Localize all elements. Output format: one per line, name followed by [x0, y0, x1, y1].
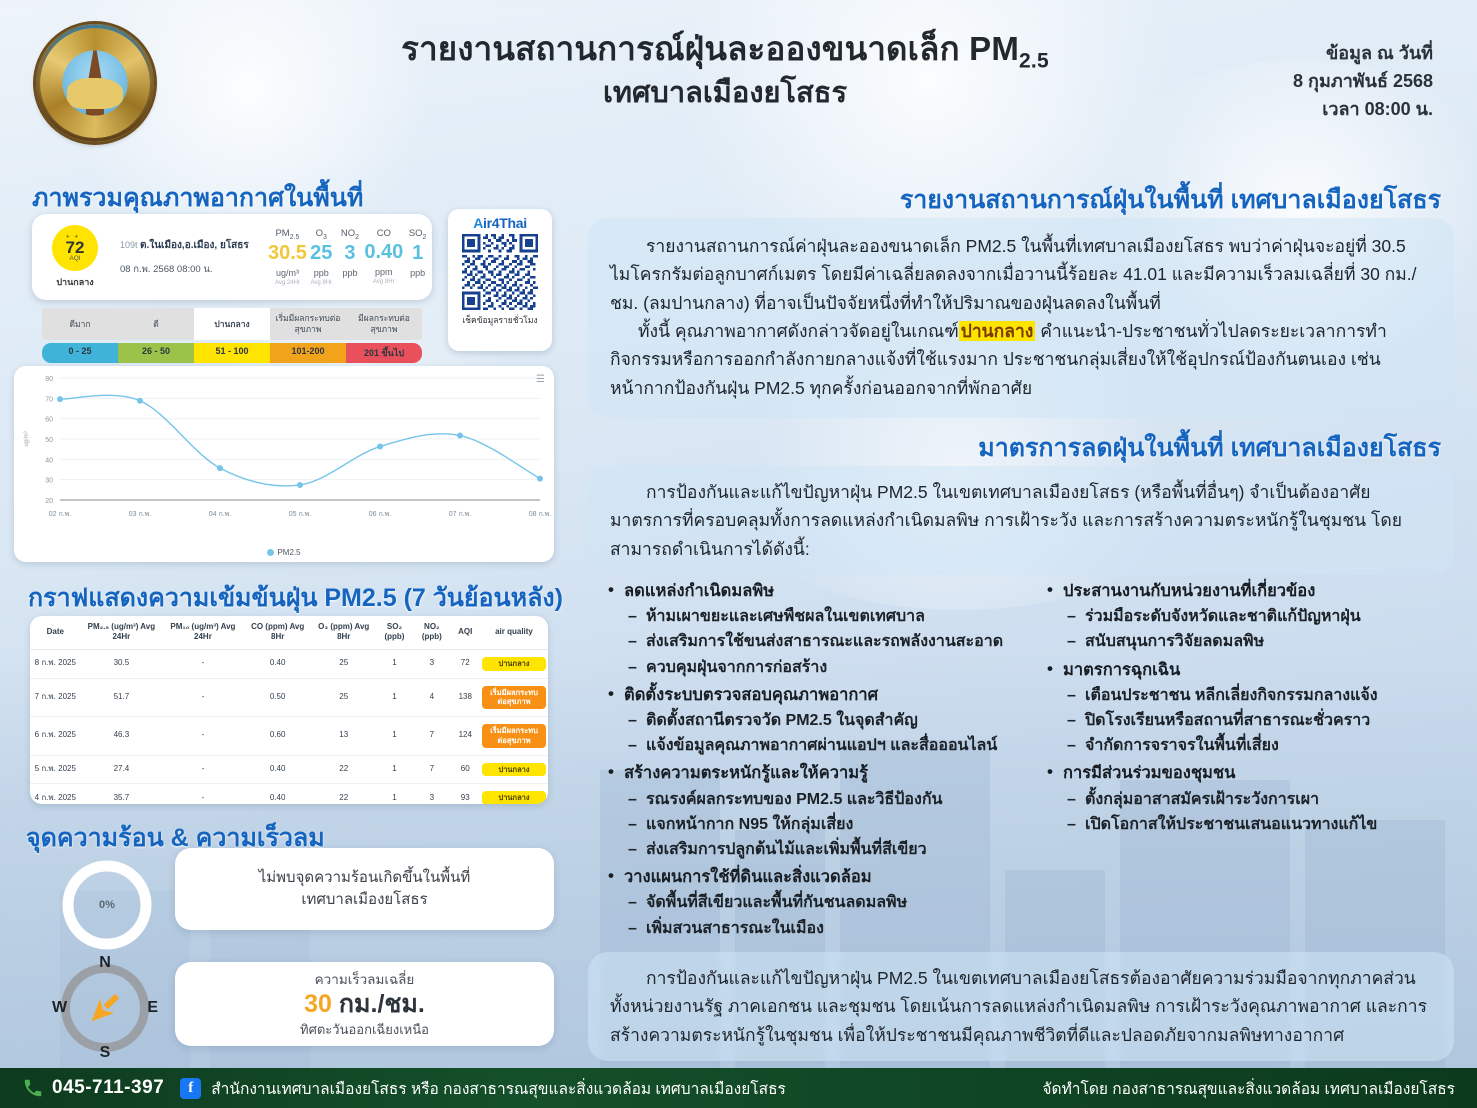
table-cell-o3: 13: [312, 717, 376, 756]
pollutant-pm2.5: PM2.530.5ug/m³Avg 24Hr: [268, 228, 307, 287]
table-header-cell: PM₁₀ (ug/m³) Avg 24Hr: [162, 616, 244, 649]
table-cell-aqi: 93: [451, 784, 481, 804]
page-footer: 045-711-397 f สำนักงานเทศบาลเมืองยโสธร ห…: [0, 1068, 1477, 1108]
table-cell-o3: 25: [312, 678, 376, 717]
aqi-scale-label-2: ปานกลาง: [194, 308, 270, 340]
phone-icon: [22, 1077, 44, 1099]
table-header-cell: AQI: [451, 616, 481, 649]
measure-sub-item: ติดตั้งสถานีตรวจวัด PM2.5 ในจุดสำคัญ: [604, 708, 1027, 733]
aqi-badge: •• 72 AQI ปานกลาง: [32, 225, 118, 289]
closing-text-panel: การป้องกันและแก้ไขปัญหาฝุ่น PM2.5 ในเขตเ…: [588, 952, 1454, 1061]
measure-group-title: ติดตั้งระบบตรวจสอบคุณภาพอากาศ: [604, 682, 1027, 708]
table-body: 8 ก.พ. 202530.5-0.40251372ปานกลาง7 ก.พ. …: [30, 649, 548, 804]
pollutant-value: 25: [307, 242, 336, 265]
measure-group-title: สร้างความตระหนักรู้และให้ความรู้: [604, 760, 1027, 786]
table-row: 5 ก.พ. 202527.4-0.40221760ปานกลาง: [30, 755, 548, 784]
pm25-trend-chart: ☰ 20304050607080ug/m³02 ก.พ.03 ก.พ.04 ก.…: [14, 366, 554, 562]
measure-sub-item: ห้ามเผาขยะและเศษพืชผลในเขตเทศบาล: [604, 604, 1027, 629]
pollutant-o3: O325ppbAvg 8Hr: [307, 228, 336, 287]
table-cell-o3: 25: [312, 649, 376, 678]
table-cell-co: 0.40: [244, 649, 312, 678]
air4thai-logo-text: ir4Thai: [483, 215, 527, 231]
page-title: รายงานสถานการณ์ฝุ่นละอองขนาดเล็ก PM2.5 เ…: [300, 28, 1150, 113]
time-value: เวลา 08:00 น.: [1293, 96, 1433, 124]
pollutant-unit: ppb: [307, 268, 336, 278]
measure-group-title: มาตรการฉุกเฉิน: [1043, 657, 1466, 683]
aqi-scale: ดีมากดีปานกลางเริ่มมีผลกระทบต่อสุขภาพมีผ…: [42, 308, 422, 363]
aqi-scale-labels: ดีมากดีปานกลางเริ่มมีผลกระทบต่อสุขภาพมีผ…: [42, 308, 422, 340]
table-row: 6 ก.พ. 202546.3-0.601317124เริ่มมีผลกระท…: [30, 717, 548, 756]
table-cell-aqi: 138: [451, 678, 481, 717]
report-text-panel: รายงานสถานการณ์ค่าฝุ่นละอองขนาดเล็ก PM2.…: [588, 218, 1454, 418]
station-id: 109t: [120, 240, 138, 250]
table-cell-aqi: 60: [451, 755, 481, 784]
aqi-scale-label-1: ดี: [118, 308, 194, 340]
aqi-scale-label-4: มีผลกระทบต่อสุขภาพ: [346, 308, 422, 340]
section-title-measures: มาตรการลดฝุ่นในพื้นที่ เทศบาลเมืองยโสธร: [978, 428, 1441, 468]
measure-sub-item: ร่วมมือระดับจังหวัดและชาติแก้ปัญหาฝุ่น: [1043, 604, 1466, 629]
measure-group: การมีส่วนร่วมของชุมชนตั้งกลุ่มอาสาสมัครเ…: [1043, 760, 1466, 837]
wind-direction-compass: N E S W: [55, 958, 155, 1058]
air4thai-aqi-card: •• 72 AQI ปานกลาง 109t ต.ในเมือง,อ.เมือง…: [32, 214, 432, 300]
report-paragraph-1: รายงานสถานการณ์ค่าฝุ่นละอองขนาดเล็ก PM2.…: [610, 232, 1432, 317]
measure-sub-item: เตือนประชาชน หลีกเลี่ยงกิจกรรมกลางแจ้ง: [1043, 683, 1466, 708]
pollutant-name: PM2.5: [268, 228, 307, 241]
table-header-cell: NO₂ (ppb): [413, 616, 450, 649]
table-cell-co: 0.40: [244, 755, 312, 784]
measure-sub-item: จัดพื้นที่สีเขียวและพื้นที่กันชนลดมลพิษ: [604, 890, 1027, 915]
aqi-level-label: ปานกลาง: [32, 275, 118, 289]
page-header: รายงานสถานการณ์ฝุ่นละอองขนาดเล็ก PM2.5 เ…: [0, 0, 1477, 160]
air-quality-badge: ปานกลาง: [482, 791, 546, 804]
measure-sub-item: เปิดโอกาสให้ประชาชนเสนอแนวทางแก้ไข: [1043, 812, 1466, 837]
measure-sub-item: ควบคุมฝุ่นจากการก่อสร้าง: [604, 655, 1027, 680]
table-cell-date: 6 ก.พ. 2025: [30, 717, 81, 756]
chart-menu-icon[interactable]: ☰: [536, 376, 546, 383]
hotspot-message-card: ไม่พบจุดความร้อนเกิดขึ้นในพื้นที่ เทศบาล…: [175, 848, 554, 930]
table-header-cell: SO₂ (ppb): [376, 616, 413, 649]
air4thai-qr-card[interactable]: Air4Thai: [448, 209, 552, 351]
measures-column-left: ลดแหล่งกำเนิดมลพิษห้ามเผาขยะและเศษพืชผลใ…: [604, 578, 1027, 943]
wind-speed-unit: กม./ชม.: [339, 990, 425, 1018]
measure-sub-item: ส่งเสริมการใช้ขนส่งสาธารณะและรถพลังงานสะ…: [604, 629, 1027, 654]
pollutant-value: 1: [403, 242, 432, 265]
svg-text:20: 20: [45, 498, 53, 505]
report-para2-pre: ทั้งนี้ คุณภาพอากาศดังกล่าวจัดอยู่ในเกณฑ…: [638, 321, 959, 341]
aqi-scale-range-2: 51 - 100: [194, 343, 270, 363]
table-cell-aqi: 124: [451, 717, 481, 756]
svg-text:60: 60: [45, 417, 53, 424]
aqi-scale-bar: 0 - 2526 - 5051 - 100101-200201 ขึ้นไป: [42, 343, 422, 363]
measure-group: สร้างความตระหนักรู้และให้ความรู้รณรงค์ผล…: [604, 760, 1027, 862]
air-quality-badge: ปานกลาง: [482, 763, 546, 777]
pollutant-no2: NO23ppb: [336, 228, 365, 287]
table-cell-air-quality: ปานกลาง: [480, 649, 548, 678]
footer-facebook-text: สำนักงานเทศบาลเมืองยโสธร หรือ กองสาธารณส…: [211, 1076, 786, 1101]
svg-text:07 ก.พ.: 07 ก.พ.: [449, 511, 472, 518]
section-title-overview: ภาพรวมคุณภาพอากาศในพื้นที่: [32, 178, 363, 218]
table-cell-no2: 7: [413, 755, 450, 784]
measure-sub-item: ปิดโรงเรียนหรือสถานที่สาธารณะชั่วคราว: [1043, 708, 1466, 733]
station-timestamp: 08 ก.พ. 2568 08:00 น.: [120, 262, 268, 277]
hotspot-message-line2: เทศบาลเมืองยโสธร: [301, 891, 427, 908]
pollutant-avg: Avg 8Hr: [307, 280, 336, 286]
svg-text:40: 40: [45, 457, 53, 464]
hotspot-message-line1: ไม่พบจุดความร้อนเกิดขึ้นในพื้นที่: [259, 869, 471, 886]
table-header-row: DatePM₂.₅ (ug/m³) Avg 24HrPM₁₀ (ug/m³) A…: [30, 616, 548, 649]
table-cell-air-quality: ปานกลาง: [480, 755, 548, 784]
measure-group: ติดตั้งระบบตรวจสอบคุณภาพอากาศติดตั้งสถาน…: [604, 682, 1027, 759]
table-cell-co: 0.50: [244, 678, 312, 717]
svg-text:06 ก.พ.: 06 ก.พ.: [369, 511, 392, 518]
table-cell-pm25: 30.5: [81, 649, 163, 678]
table-row: 4 ก.พ. 202535.7-0.40221393ปานกลาง: [30, 784, 548, 804]
svg-text:30: 30: [45, 478, 53, 485]
pollutant-value: 0.40: [364, 241, 403, 264]
date-value: 8 กุมภาพันธ์ 2568: [1293, 68, 1433, 96]
table-cell-pm10: -: [162, 649, 244, 678]
closing-paragraph: การป้องกันและแก้ไขปัญหาฝุ่น PM2.5 ในเขตเ…: [610, 964, 1432, 1049]
hotspot-percent-ring: 0%: [58, 856, 156, 954]
table-cell-date: 4 ก.พ. 2025: [30, 784, 81, 804]
measures-column-right: ประสานงานกับหน่วยงานที่เกี่ยวข้องร่วมมือ…: [1043, 578, 1466, 943]
table-header-cell: air quality: [480, 616, 548, 649]
table-cell-pm10: -: [162, 678, 244, 717]
table-header-cell: Date: [30, 616, 81, 649]
aqi-value: 72: [66, 239, 85, 256]
legend-marker-icon: [267, 549, 274, 556]
measure-group-title: วางแผนการใช้ที่ดินและสิ่งแวดล้อม: [604, 864, 1027, 890]
table-cell-aqi: 72: [451, 649, 481, 678]
table-cell-pm10: -: [162, 755, 244, 784]
pollutant-name: SO2: [403, 228, 432, 241]
pollutant-unit: ppb: [336, 268, 365, 278]
report-date-block: ข้อมูล ณ วันที่ 8 กุมภาพันธ์ 2568 เวลา 0…: [1293, 40, 1433, 124]
pollutant-name: NO2: [336, 228, 365, 241]
pollutant-avg: Avg 24Hr: [268, 280, 307, 286]
pollutant-value: 3: [336, 242, 365, 265]
table-cell-no2: 3: [413, 649, 450, 678]
table-cell-o3: 22: [312, 784, 376, 804]
svg-text:03 ก.พ.: 03 ก.พ.: [129, 511, 152, 518]
title-line2: เทศบาลเมืองยโสธร: [300, 75, 1150, 113]
pm25-history-table: DatePM₂.₅ (ug/m³) Avg 24HrPM₁₀ (ug/m³) A…: [30, 616, 548, 804]
pollutant-unit: ug/m³: [268, 268, 307, 278]
title-line1-subscript: 2.5: [1019, 50, 1049, 73]
svg-text:04 ก.พ.: 04 ก.พ.: [209, 511, 232, 518]
measures-intro-panel: การป้องกันและแก้ไขปัญหาฝุ่น PM2.5 ในเขตเ…: [588, 466, 1454, 575]
wind-speed-label: ความเร็วลมเฉลี่ย: [315, 968, 415, 990]
measure-group-title: การมีส่วนร่วมของชุมชน: [1043, 760, 1466, 786]
station-info: 109t ต.ในเมือง,อ.เมือง, ยโสธร 08 ก.พ. 25…: [118, 238, 268, 277]
table-header-cell: PM₂.₅ (ug/m³) Avg 24Hr: [81, 616, 163, 649]
table-cell-pm25: 46.3: [81, 717, 163, 756]
aqi-scale-label-0: ดีมาก: [42, 308, 118, 340]
wind-arrow-icon: [82, 985, 128, 1031]
pollutant-avg: Avg 8Hr: [364, 279, 403, 285]
svg-text:08 ก.พ.: 08 ก.พ.: [529, 511, 552, 518]
title-line1-text: รายงานสถานการณ์ฝุ่นละอองขนาดเล็ก PM: [401, 30, 1019, 67]
table-cell-air-quality: เริ่มมีผลกระทบต่อสุขภาพ: [480, 678, 548, 717]
svg-text:50: 50: [45, 437, 53, 444]
svg-text:70: 70: [45, 396, 53, 403]
measure-group: ลดแหล่งกำเนิดมลพิษห้ามเผาขยะและเศษพืชผลใ…: [604, 578, 1027, 680]
air-quality-badge: ปานกลาง: [482, 657, 546, 671]
aqi-scale-range-3: 101-200: [270, 343, 346, 363]
table-cell-pm10: -: [162, 717, 244, 756]
aqi-scale-label-3: เริ่มมีผลกระทบต่อสุขภาพ: [270, 308, 346, 340]
section-title-graph: กราฟแสดงความเข้มข้นฝุ่น PM2.5 (7 วันย้อน…: [28, 578, 563, 618]
report-paragraph-2: ทั้งนี้ คุณภาพอากาศดังกล่าวจัดอยู่ในเกณฑ…: [610, 317, 1432, 402]
air-quality-badge: เริ่มมีผลกระทบต่อสุขภาพ: [482, 724, 546, 748]
measure-sub-item: รณรงค์ผลกระทบของ PM2.5 และวิธีป้องกัน: [604, 787, 1027, 812]
compass-west-label: W: [52, 999, 67, 1017]
measure-sub-item: ส่งเสริมการปลูกต้นไม้และเพิ่มพื้นที่สีเข…: [604, 837, 1027, 862]
table-cell-co: 0.60: [244, 717, 312, 756]
report-level-highlight: ปานกลาง: [959, 321, 1036, 341]
compass-east-label: E: [147, 999, 158, 1017]
measure-sub-item: ตั้งกลุ่มอาสาสมัครเฝ้าระวังการเผา: [1043, 787, 1466, 812]
measure-sub-item: แจกหน้ากาก N95 ให้กลุ่มเสี่ยง: [604, 812, 1027, 837]
table-header-cell: CO (ppm) Avg 8Hr: [244, 616, 312, 649]
pm25-history-table-card: DatePM₂.₅ (ug/m³) Avg 24HrPM₁₀ (ug/m³) A…: [30, 616, 548, 804]
wind-direction-label: ทิศตะวันออกเฉียงเหนือ: [300, 1019, 429, 1040]
measure-sub-item: เพิ่มสวนสาธารณะในเมือง: [604, 916, 1027, 941]
station-name: ต.ในเมือง,อ.เมือง, ยโสธร: [140, 240, 249, 251]
pollutant-co: CO0.40ppmAvg 8Hr: [364, 228, 403, 287]
table-cell-date: 8 ก.พ. 2025: [30, 649, 81, 678]
pollutant-unit: ppm: [364, 267, 403, 277]
table-cell-no2: 4: [413, 678, 450, 717]
measure-sub-item: จำกัดการจราจรในพื้นที่เสี่ยง: [1043, 733, 1466, 758]
svg-text:05 ก.พ.: 05 ก.พ.: [289, 511, 312, 518]
table-cell-co: 0.40: [244, 784, 312, 804]
air4thai-caption: เช็คข้อมูลรายชั่วโมง: [453, 313, 547, 327]
air4thai-logo-a: A: [473, 215, 483, 231]
table-cell-pm10: -: [162, 784, 244, 804]
pollutant-name: CO: [364, 228, 403, 239]
table-cell-air-quality: ปานกลาง: [480, 784, 548, 804]
municipal-seal-icon: [36, 24, 154, 142]
table-cell-pm25: 27.4: [81, 755, 163, 784]
date-label: ข้อมูล ณ วันที่: [1293, 40, 1433, 68]
aqi-scale-range-0: 0 - 25: [42, 343, 118, 363]
pollutant-unit: ppb: [403, 268, 432, 278]
pollutant-value: 30.5: [268, 242, 307, 265]
measure-group-title: ประสานงานกับหน่วยงานที่เกี่ยวข้อง: [1043, 578, 1466, 604]
chart-canvas: 20304050607080ug/m³02 ก.พ.03 ก.พ.04 ก.พ.…: [14, 366, 554, 534]
table-cell-no2: 7: [413, 717, 450, 756]
measure-group: ประสานงานกับหน่วยงานที่เกี่ยวข้องร่วมมือ…: [1043, 578, 1466, 655]
compass-south-label: S: [100, 1044, 111, 1062]
table-cell-so2: 1: [376, 649, 413, 678]
pollutant-readings: PM2.530.5ug/m³Avg 24HrO325ppbAvg 8HrNO23…: [268, 228, 432, 287]
table-cell-no2: 3: [413, 784, 450, 804]
table-row: 7 ก.พ. 202551.7-0.502514138เริ่มมีผลกระท…: [30, 678, 548, 717]
compass-north-label: N: [99, 954, 111, 972]
table-header-cell: O₃ (ppm) Avg 8Hr: [312, 616, 376, 649]
aqi-scale-range-4: 201 ขึ้นไป: [346, 343, 422, 363]
svg-text:80: 80: [45, 376, 53, 383]
footer-phone[interactable]: 045-711-397: [52, 1077, 164, 1099]
svg-text:ug/m³: ug/m³: [24, 431, 30, 446]
section-title-report: รายงานสถานการณ์ฝุ่นในพื้นที่ เทศบาลเมือง…: [900, 180, 1441, 220]
table-cell-so2: 1: [376, 784, 413, 804]
measure-sub-item: สนับสนุนการวิจัยลดมลพิษ: [1043, 629, 1466, 654]
legend-label: PM2.5: [277, 548, 300, 557]
measure-group: วางแผนการใช้ที่ดินและสิ่งแวดล้อมจัดพื้นท…: [604, 864, 1027, 941]
wind-speed-card: ความเร็วลมเฉลี่ย 30 กม./ชม. ทิศตะวันออกเ…: [175, 962, 554, 1046]
table-cell-pm25: 35.7: [81, 784, 163, 804]
pollutant-name: O3: [307, 228, 336, 241]
wind-speed-value: 30: [304, 990, 332, 1018]
table-cell-air-quality: เริ่มมีผลกระทบต่อสุขภาพ: [480, 717, 548, 756]
air-quality-badge: เริ่มมีผลกระทบต่อสุขภาพ: [482, 686, 546, 710]
aqi-face-icon: •• 72 AQI: [52, 225, 98, 271]
aqi-unit-label: AQI: [69, 256, 80, 263]
table-cell-o3: 22: [312, 755, 376, 784]
table-cell-pm25: 51.7: [81, 678, 163, 717]
table-row: 8 ก.พ. 202530.5-0.40251372ปานกลาง: [30, 649, 548, 678]
table-cell-so2: 1: [376, 717, 413, 756]
table-cell-so2: 1: [376, 755, 413, 784]
measures-bullet-columns: ลดแหล่งกำเนิดมลพิษห้ามเผาขยะและเศษพืชผลใ…: [604, 578, 1466, 943]
table-cell-date: 5 ก.พ. 2025: [30, 755, 81, 784]
table-cell-so2: 1: [376, 678, 413, 717]
air4thai-logo: Air4Thai: [453, 215, 547, 231]
aqi-scale-range-1: 26 - 50: [118, 343, 194, 363]
chart-legend: PM2.5: [14, 548, 554, 557]
measure-sub-item: แจ้งข้อมูลคุณภาพอากาศผ่านแอปฯ และสื่อออน…: [604, 733, 1027, 758]
measures-intro-text: การป้องกันและแก้ไขปัญหาฝุ่น PM2.5 ในเขตเ…: [610, 478, 1432, 563]
svg-text:02 ก.พ.: 02 ก.พ.: [49, 511, 72, 518]
table-cell-date: 7 ก.พ. 2025: [30, 678, 81, 717]
measure-group: มาตรการฉุกเฉินเตือนประชาชน หลีกเลี่ยงกิจ…: [1043, 657, 1466, 759]
hotspot-percent-value: 0%: [58, 856, 156, 954]
pollutant-so2: SO21ppb: [403, 228, 432, 287]
measure-group-title: ลดแหล่งกำเนิดมลพิษ: [604, 578, 1027, 604]
footer-credit: จัดทำโดย กองสาธารณสุขและสิ่งแวดล้อม เทศบ…: [1042, 1076, 1455, 1101]
qr-code-icon[interactable]: [462, 234, 538, 310]
facebook-icon[interactable]: f: [180, 1078, 201, 1099]
